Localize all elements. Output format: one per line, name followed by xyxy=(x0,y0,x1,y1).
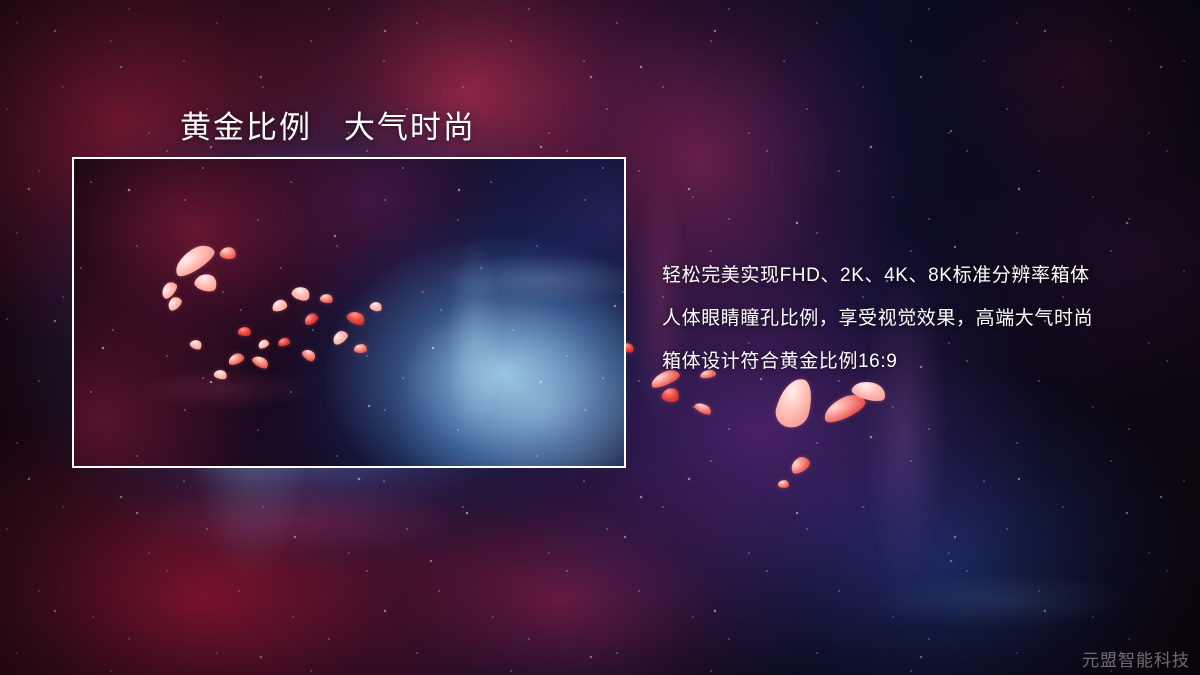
body-line-1: 轻松完美实现FHD、2K、4K、8K标准分辨率箱体 xyxy=(662,254,1162,297)
body-line-3: 箱体设计符合黄金比例16:9 xyxy=(662,340,1162,383)
petal-shape xyxy=(788,454,812,476)
body-copy-block: 轻松完美实现FHD、2K、4K、8K标准分辨率箱体 人体眼睛瞳孔比例，享受视觉效… xyxy=(662,254,1162,383)
watermark-brand: 元盟智能科技 xyxy=(1082,646,1190,671)
framed-product-image xyxy=(72,157,626,468)
petal-shape xyxy=(778,479,790,488)
body-line-2: 人体眼睛瞳孔比例，享受视觉效果，高端大气时尚 xyxy=(662,297,1162,340)
petal-shape xyxy=(820,390,868,426)
presentation-slide: 黄金比例 大气时尚 轻松完美实现FHD、2K、4K、8K标准分辨率箱体 人体眼睛… xyxy=(0,0,1200,675)
petal-shape xyxy=(693,400,713,416)
petal-shape xyxy=(772,375,816,431)
inset-wisp-overlay xyxy=(74,159,624,466)
page-title: 黄金比例 大气时尚 xyxy=(180,102,476,147)
petal-shape xyxy=(661,386,681,403)
